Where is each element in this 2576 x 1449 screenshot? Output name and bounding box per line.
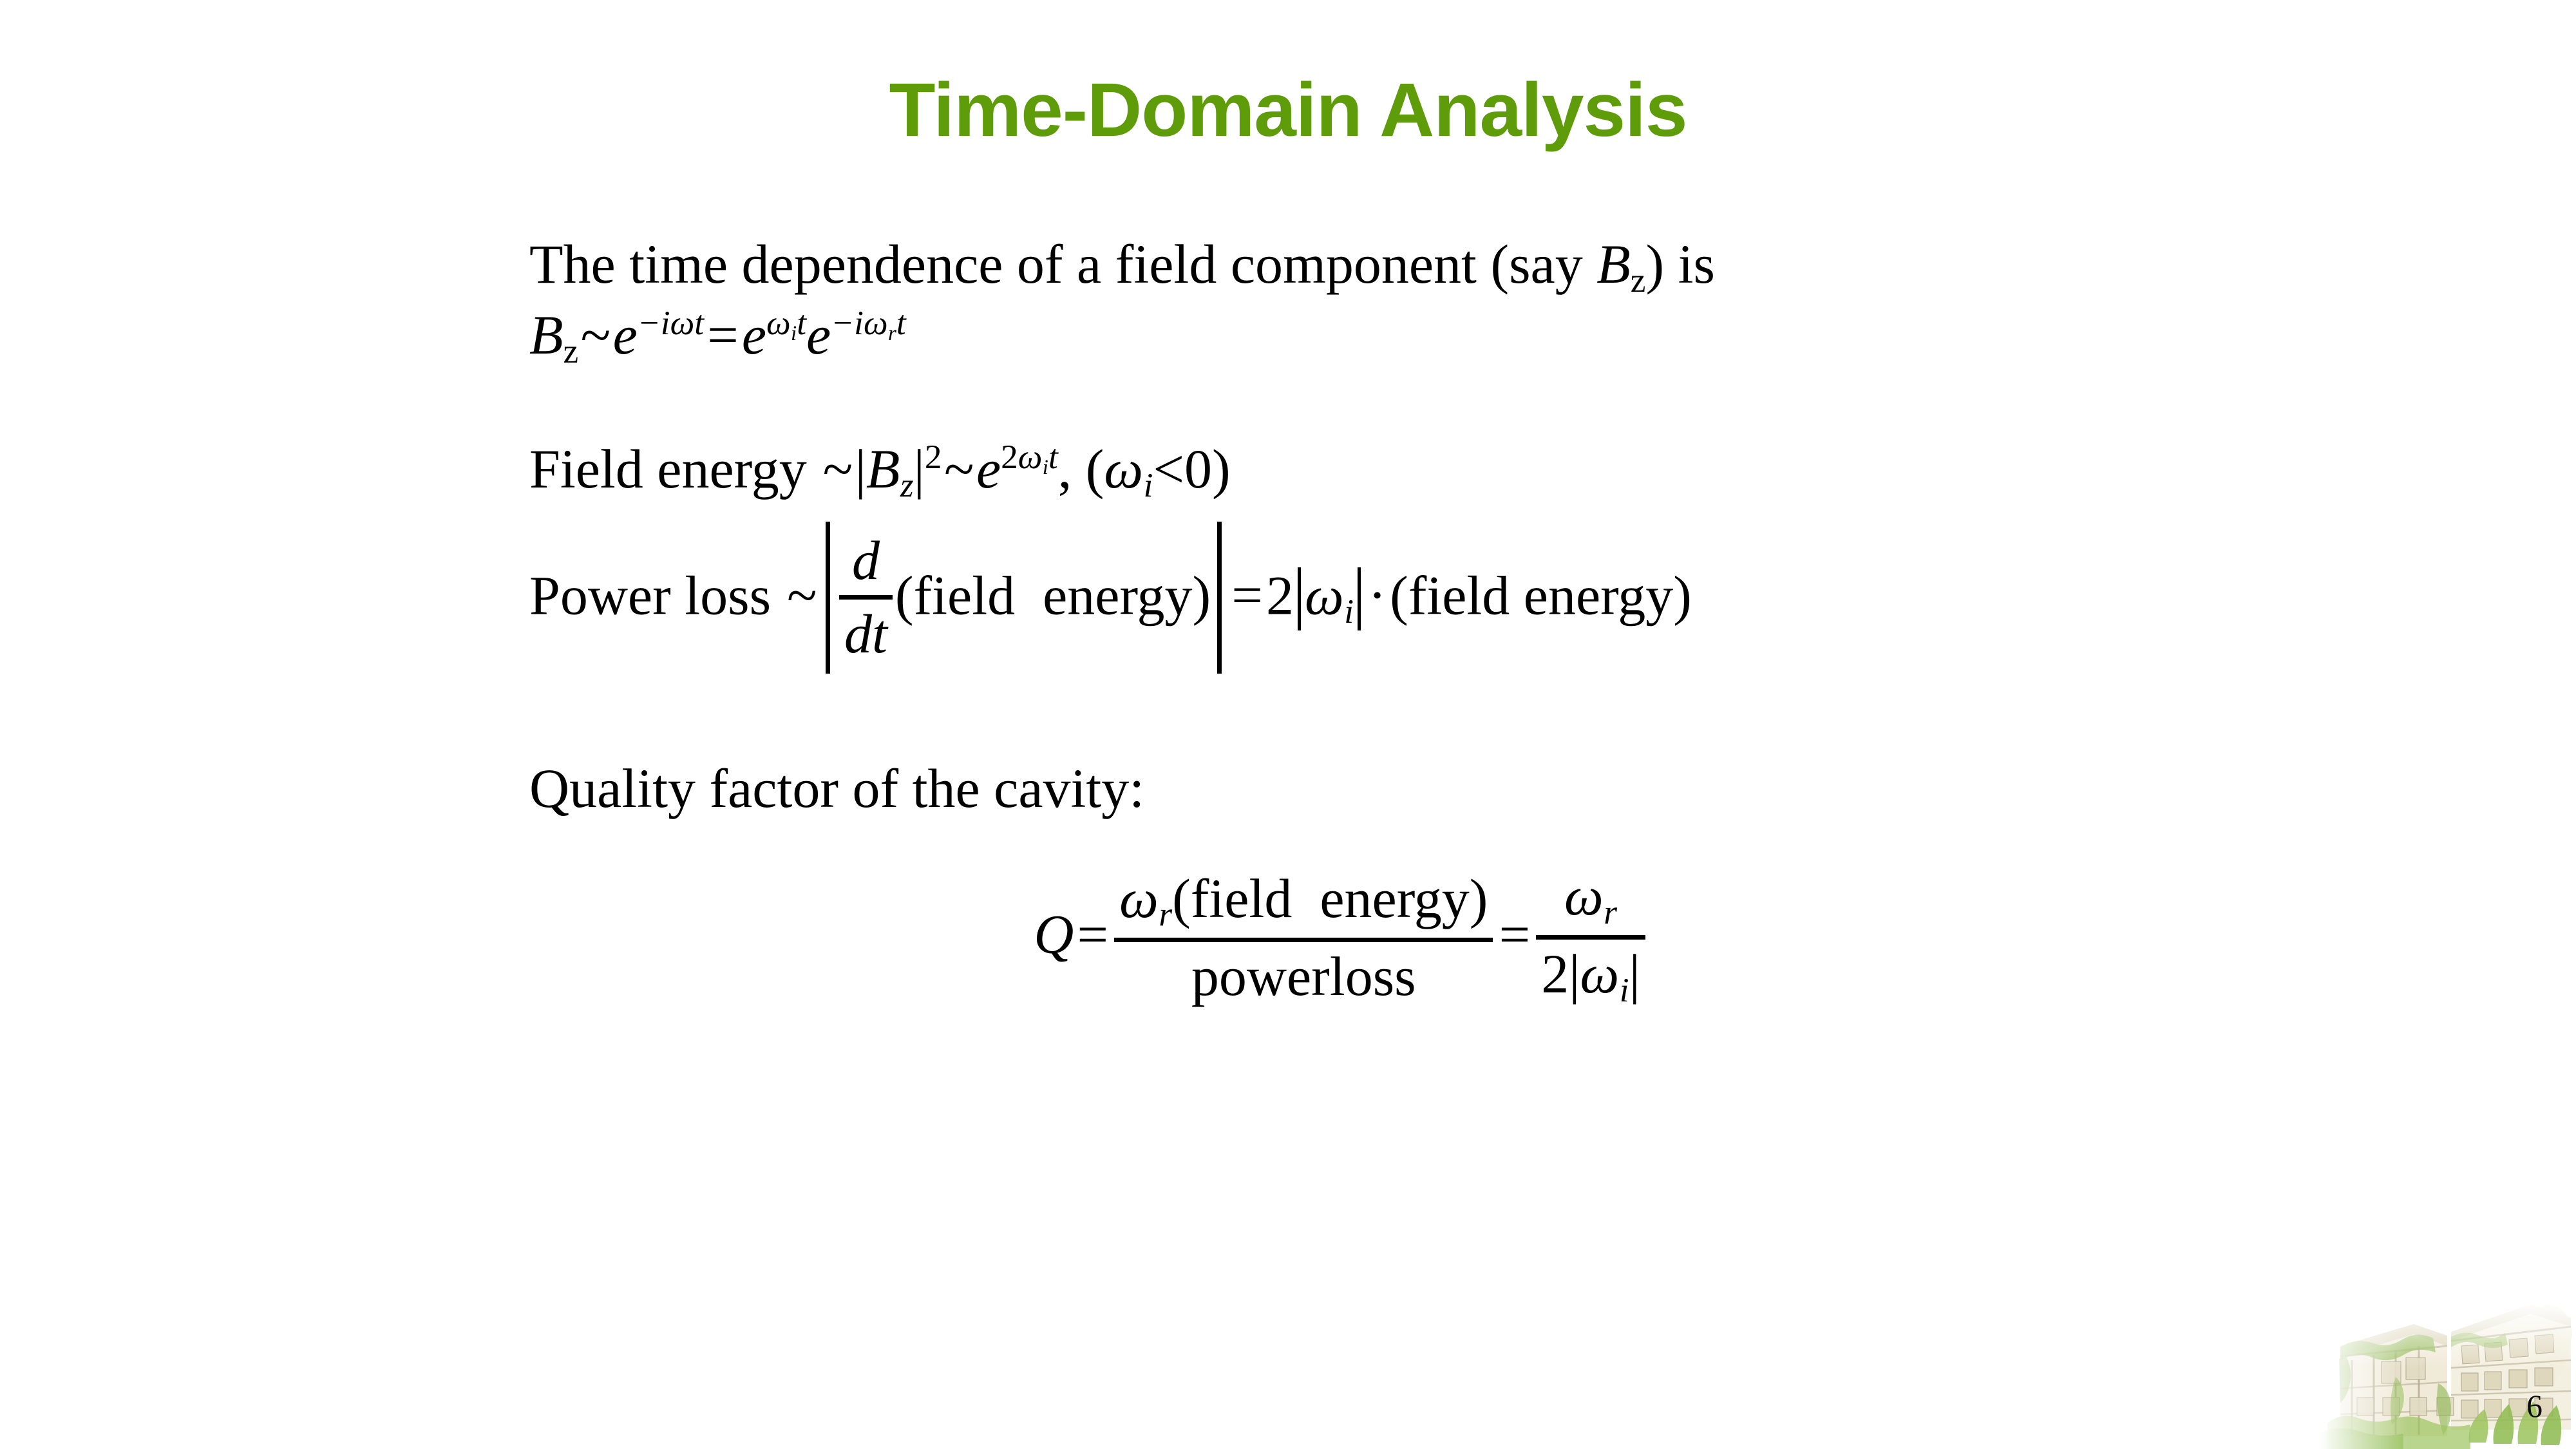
quality-result-den-subscript: i [1619, 971, 1629, 1009]
field-energy-label: Field energy [529, 438, 820, 500]
eq-bz-e2: e [742, 304, 766, 366]
slide-body: The time dependence of a field component… [529, 231, 2397, 822]
quality-numerator-field-energy: (field energy) [1172, 867, 1488, 929]
quality-result-two: 2 [1541, 943, 1569, 1005]
eq-bz-equals: = [704, 304, 742, 366]
eq-bz-e2-omega: ω [766, 303, 791, 342]
eq-bz-e1-exponent: −iωt [638, 303, 704, 342]
eq-bz-e3-omega-subscript: r [888, 322, 896, 345]
symbol-B-subscript: z [1631, 261, 1646, 299]
derivative-numerator: d [839, 531, 893, 590]
eq-bz-tilde: ~ [578, 304, 612, 366]
abs-bar-right [1217, 522, 1222, 674]
equation-quality-factor: Q=ωr(field energy)powerloss=ωr2|ωi| [529, 869, 2152, 1011]
eq-bz-B: B [529, 304, 563, 366]
power-loss-field-energy-term: (field energy) [895, 564, 1211, 626]
quality-result-fraction: ωr2|ωi| [1536, 867, 1645, 1009]
eq-bz-e2-omega-subscript: i [791, 322, 797, 345]
field-energy-abs-open: | [855, 438, 866, 500]
field-energy-comma-open: , ( [1058, 438, 1104, 500]
power-loss-dot: · [1365, 564, 1390, 626]
quality-equals-2: = [1495, 904, 1533, 965]
field-energy-B: B [866, 438, 900, 500]
field-energy-B-subscript: z [900, 466, 913, 504]
field-energy-condition-subscript: i [1143, 466, 1153, 504]
quality-result-abs-close: | [1629, 943, 1640, 1005]
spacer-before-power-loss [529, 506, 2397, 526]
quality-result-den-omega: ω [1580, 943, 1620, 1005]
field-energy-condition-rest: <0) [1153, 438, 1230, 500]
equation-power-loss: Power loss ~ddt(field energy)=2ωi·(field… [529, 526, 2397, 677]
field-energy-exp-omega: ω [1018, 437, 1043, 476]
field-energy-exp-omega-subscript: i [1042, 456, 1048, 479]
quality-result-fraction-rule [1536, 935, 1645, 940]
abs-bar-left [826, 522, 830, 674]
quality-main-fraction: ωr(field energy)powerloss [1114, 869, 1493, 1007]
power-loss-label: Power loss [529, 564, 785, 626]
intro-text-before: The time dependence of a field component… [529, 233, 1596, 295]
derivative-fraction: ddt [839, 531, 893, 663]
page-title: Time-Domain Analysis [0, 68, 2576, 153]
eq-bz-e2-t: t [797, 303, 806, 342]
power-loss-coefficient-two: 2 [1266, 564, 1294, 626]
spacer-before-quality [529, 677, 2397, 755]
quality-result-numerator: ωr [1536, 867, 1645, 930]
field-energy-condition-omega: ω [1104, 438, 1143, 500]
quality-Q: Q [1034, 904, 1074, 965]
quality-fraction-rule [1114, 938, 1493, 942]
power-loss-tilde: ~ [785, 564, 819, 626]
quality-factor-heading: Quality factor of the cavity: [529, 755, 2397, 822]
power-loss-omega: ω [1305, 564, 1344, 626]
eq-bz-e3-exponent: −iω [831, 303, 887, 342]
power-loss-equals: = [1228, 564, 1266, 626]
quality-result-omega-subscript: r [1604, 893, 1617, 931]
eq-bz-B-subscript: z [563, 332, 579, 370]
equation-field-energy: Field energy ~|Bz|2~e2ωit, (ωi<0) [529, 435, 2397, 506]
eq-bz-e1: e [613, 304, 638, 366]
quality-equals-1: = [1074, 904, 1112, 965]
eq-bz-e3: e [806, 304, 831, 366]
field-energy-tilde-1: ~ [820, 438, 855, 500]
fraction-rule [839, 595, 893, 600]
power-loss-rhs-field-energy: (field energy) [1390, 564, 1692, 626]
quality-numerator-omega: ω [1119, 867, 1159, 929]
field-energy-exp-t: t [1048, 437, 1058, 476]
abs-bar-omega-left [1298, 567, 1301, 630]
field-energy-exp-two: 2 [1001, 437, 1018, 476]
spacer-after-intro [529, 372, 2397, 435]
quality-result-abs-open: | [1569, 943, 1580, 1005]
quality-result-denominator: 2|ωi| [1536, 945, 1645, 1008]
power-loss-omega-subscript: i [1344, 592, 1354, 630]
intro-text-after: ) is [1645, 233, 1715, 295]
field-energy-e: e [976, 438, 1001, 500]
campus-building-watercolor-icon [2318, 1301, 2576, 1449]
derivative-denominator: dt [839, 605, 893, 663]
quality-denominator: powerloss [1114, 947, 1493, 1006]
field-energy-tilde-2: ~ [942, 438, 976, 500]
page-number: 6 [2526, 1390, 2543, 1422]
quality-numerator: ωr(field energy) [1114, 869, 1493, 933]
intro-sentence: The time dependence of a field component… [529, 231, 2397, 301]
quality-numerator-omega-subscript: r [1159, 895, 1172, 933]
abs-bar-omega-right [1358, 567, 1361, 630]
equation-bz: Bz~e−iωt=eωite−iωrt [529, 301, 2397, 372]
symbol-B: B [1596, 233, 1631, 295]
field-energy-power: 2 [925, 437, 942, 476]
quality-result-omega: ω [1564, 865, 1604, 927]
eq-bz-e3-t: t [896, 303, 906, 342]
field-energy-abs-close: | [914, 438, 925, 500]
